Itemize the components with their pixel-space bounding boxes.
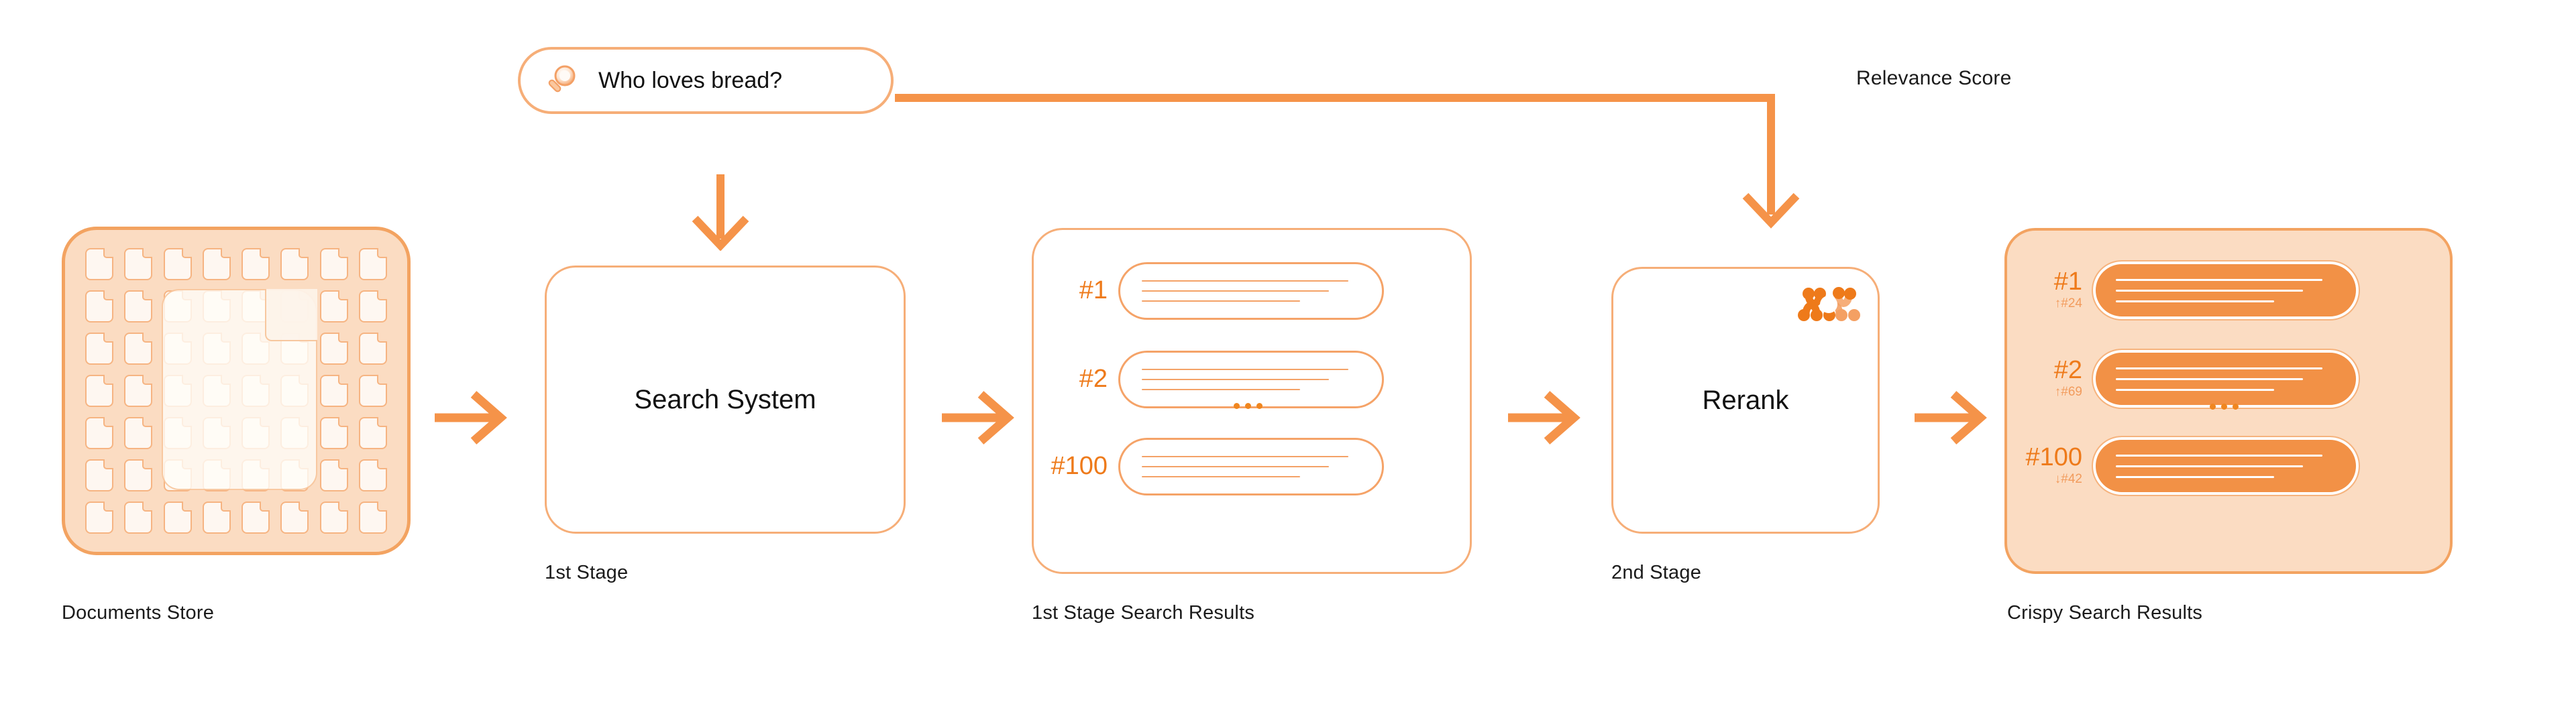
relevance-score-label: Relevance Score <box>1856 67 2011 90</box>
document-icon <box>164 248 192 280</box>
result-row[interactable]: #2 <box>1039 351 1384 408</box>
text-line <box>1142 290 1329 292</box>
rank-column: #1 <box>1039 278 1118 304</box>
document-icon <box>85 248 113 280</box>
arrow-search-to-results <box>939 386 1017 449</box>
document-icon <box>203 502 231 534</box>
rank-column: #100 <box>1039 453 1118 480</box>
result-row[interactable]: #1 <box>1039 262 1384 320</box>
document-icon <box>85 290 113 322</box>
second-stage-caption: 2nd Stage <box>1611 562 1701 584</box>
document-icon <box>359 417 387 449</box>
text-line <box>2116 378 2303 380</box>
document-icon <box>359 248 387 280</box>
document-icon <box>359 333 387 365</box>
arrow-docs-to-search <box>432 386 510 449</box>
document-icon <box>124 417 152 449</box>
arrow-query-to-search <box>686 173 755 251</box>
first-stage-results-caption: 1st Stage Search Results <box>1032 602 1254 624</box>
document-icon <box>320 248 348 280</box>
text-line <box>1142 369 1348 370</box>
text-line <box>2116 290 2303 292</box>
result-pill[interactable] <box>2093 261 2359 319</box>
text-line <box>2116 389 2274 391</box>
rank-column: #2 <box>1039 366 1118 393</box>
rank-column: #100 ↓#42 <box>2014 445 2093 487</box>
search-icon <box>545 63 580 98</box>
search-query-text: Who loves bread? <box>598 68 782 94</box>
document-icon <box>124 290 152 322</box>
text-line <box>1142 456 1348 457</box>
document-icon <box>320 333 348 365</box>
result-pill[interactable] <box>1118 351 1384 408</box>
document-icon <box>85 459 113 491</box>
rank-delta-badge: ↑#69 <box>2014 385 2082 400</box>
document-icon <box>359 290 387 322</box>
rerank-label: Rerank <box>1703 386 1789 416</box>
result-pill[interactable] <box>1118 262 1384 320</box>
documents-store-panel <box>62 227 411 555</box>
document-icon <box>320 502 348 534</box>
result-pill[interactable] <box>2093 437 2359 495</box>
text-line <box>1142 466 1329 467</box>
table-row[interactable]: #1 ↑#24 <box>2014 261 2359 319</box>
rank-label: #1 <box>1039 278 1108 304</box>
first-stage-results-panel: #1 #2 #100 <box>1032 228 1472 574</box>
text-line <box>1142 379 1329 380</box>
arrow-results-to-rerank <box>1505 386 1583 449</box>
ellipsis-indicator <box>2210 404 2239 410</box>
document-icon <box>124 459 152 491</box>
document-icon <box>320 375 348 407</box>
document-icon <box>85 333 113 365</box>
rank-label: #2 <box>2014 357 2082 384</box>
text-line <box>2116 465 2303 467</box>
rank-label: #2 <box>1039 366 1108 393</box>
search-system-box[interactable]: Search System <box>545 266 906 534</box>
document-icon <box>320 417 348 449</box>
text-line <box>1142 300 1300 302</box>
result-pill[interactable] <box>2093 350 2359 408</box>
arrow-query-to-rerank <box>892 71 1805 245</box>
document-icon <box>320 459 348 491</box>
document-icon <box>359 375 387 407</box>
table-row[interactable]: #100 ↓#42 <box>2014 437 2359 495</box>
text-line <box>2116 300 2274 302</box>
document-icon <box>320 290 348 322</box>
document-icon <box>241 502 270 534</box>
documents-store-caption: Documents Store <box>62 602 214 624</box>
rank-delta-badge: ↓#42 <box>2014 472 2082 487</box>
result-pill[interactable] <box>1118 438 1384 495</box>
document-icon <box>280 502 309 534</box>
text-line <box>2116 367 2322 369</box>
diagram-canvas: Documents Store Who loves bread? <box>0 0 2576 704</box>
document-icon <box>124 248 152 280</box>
text-line <box>2116 279 2322 281</box>
document-icon <box>85 417 113 449</box>
rank-column: #1 ↑#24 <box>2014 269 2093 312</box>
crispy-results-caption: Crispy Search Results <box>2007 602 2202 624</box>
rank-column: #2 ↑#69 <box>2014 357 2093 400</box>
first-stage-caption: 1st Stage <box>545 562 628 584</box>
text-line <box>1142 389 1300 390</box>
rank-label: #1 <box>2014 269 2082 296</box>
document-icon <box>280 248 309 280</box>
rerank-box[interactable]: Rerank <box>1611 267 1880 534</box>
table-row[interactable]: #2 ↑#69 <box>2014 350 2359 408</box>
document-icon <box>359 459 387 491</box>
document-icon <box>359 502 387 534</box>
search-system-label: Search System <box>634 385 816 415</box>
document-icon <box>203 248 231 280</box>
document-icon <box>241 248 270 280</box>
rank-delta-badge: ↑#24 <box>2014 296 2082 312</box>
rank-label: #100 <box>2014 445 2082 471</box>
document-icon <box>85 375 113 407</box>
crispy-results-panel: #1 ↑#24 #2 ↑#69 #1 <box>2004 228 2453 574</box>
text-line <box>1142 476 1300 477</box>
featured-document-icon <box>162 289 317 490</box>
document-icon <box>124 333 152 365</box>
search-query-pill[interactable]: Who loves bread? <box>518 47 894 114</box>
text-line <box>2116 476 2274 478</box>
result-row[interactable]: #100 <box>1039 438 1384 495</box>
ellipsis-indicator <box>1234 403 1263 409</box>
document-icon <box>164 502 192 534</box>
mixedbread-logo-icon <box>1797 284 1860 325</box>
document-icon <box>124 375 152 407</box>
text-line <box>2116 455 2322 457</box>
document-icon <box>85 502 113 534</box>
arrow-rerank-to-crispy <box>1912 386 1990 449</box>
document-icon <box>124 502 152 534</box>
rank-label: #100 <box>1039 453 1108 480</box>
text-line <box>1142 280 1348 282</box>
